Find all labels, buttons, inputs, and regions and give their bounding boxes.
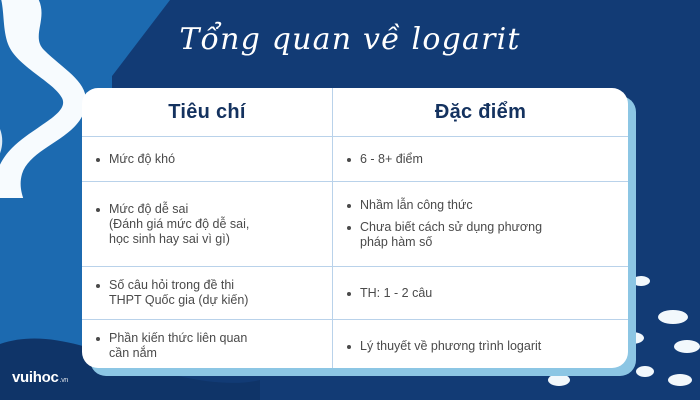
bullet-icon (347, 345, 351, 349)
list-item: Lý thuyết về phương trình logarit (347, 339, 618, 354)
list-item-label: Mức độ khó (109, 152, 322, 167)
list-item: 6 - 8+ điểm (347, 152, 618, 167)
header-label-criteria: Tiêu chí (168, 101, 246, 124)
list-item: Số câu hỏi trong đề thi THPT Quốc gia (d… (96, 278, 322, 308)
header-cell-criteria: Tiêu chí (82, 88, 332, 136)
page-title: Tổng quan về logarit (0, 22, 700, 57)
row-4-characteristics-cell: Lý thuyết về phương trình logarit (332, 320, 628, 368)
bullet-icon (347, 158, 351, 162)
row-3-criteria-cell: Số câu hỏi trong đề thi THPT Quốc gia (d… (82, 267, 332, 319)
list-item: Phần kiến thức liên quan cần nắm (96, 331, 322, 361)
list-item-label: Nhầm lẫn công thức (360, 198, 618, 213)
bullet-icon (347, 292, 351, 296)
brand-logo[interactable]: vuihoc .vn (12, 369, 68, 386)
slide-canvas: Tổng quan về logarit Tiêu chí Đặc điểm M… (0, 0, 700, 400)
list-item-label: Chưa biết cách sử dụng phương pháp hàm s… (360, 220, 618, 250)
table-row: Số câu hỏi trong đề thi THPT Quốc gia (d… (82, 266, 628, 319)
list-item-label: TH: 1 - 2 câu (360, 286, 618, 301)
header-label-characteristics: Đặc điểm (435, 101, 526, 124)
row-4-criteria-cell: Phần kiến thức liên quan cần nắm (82, 320, 332, 368)
list-item-label: Số câu hỏi trong đề thi THPT Quốc gia (d… (109, 278, 322, 308)
table-row: Phần kiến thức liên quan cần nắm Lý thuy… (82, 319, 628, 368)
table-row: Mức độ dễ sai (Đánh giá mức độ dễ sai, h… (82, 181, 628, 266)
bullet-icon (96, 284, 100, 288)
list-item-label: Lý thuyết về phương trình logarit (360, 339, 618, 354)
comparison-table: Tiêu chí Đặc điểm Mức độ khó 6 - 8+ điểm (82, 88, 628, 368)
list-item: TH: 1 - 2 câu (347, 286, 618, 301)
list-item: Chưa biết cách sử dụng phương pháp hàm s… (347, 220, 618, 250)
table-row: Mức độ khó 6 - 8+ điểm (82, 136, 628, 181)
list-item: Mức độ dễ sai (Đánh giá mức độ dễ sai, h… (96, 202, 322, 247)
row-3-characteristics-cell: TH: 1 - 2 câu (332, 267, 628, 319)
bullet-icon (96, 158, 100, 162)
table-header-row: Tiêu chí Đặc điểm (82, 88, 628, 136)
row-2-characteristics-cell: Nhầm lẫn công thức Chưa biết cách sử dụn… (332, 182, 628, 266)
bullet-icon (96, 208, 100, 212)
row-2-criteria-cell: Mức độ dễ sai (Đánh giá mức độ dễ sai, h… (82, 182, 332, 266)
bullet-icon (96, 337, 100, 341)
brand-logo-suffix: .vn (60, 377, 68, 384)
list-item-label: 6 - 8+ điểm (360, 152, 618, 167)
list-item: Nhầm lẫn công thức (347, 198, 618, 213)
header-cell-characteristics: Đặc điểm (332, 88, 628, 136)
row-1-criteria-cell: Mức độ khó (82, 137, 332, 181)
list-item: Mức độ khó (96, 152, 322, 167)
bullet-icon (347, 204, 351, 208)
row-1-characteristics-cell: 6 - 8+ điểm (332, 137, 628, 181)
list-item-label: Phần kiến thức liên quan cần nắm (109, 331, 322, 361)
brand-logo-name: vuihoc (12, 369, 59, 386)
bullet-icon (347, 226, 351, 230)
list-item-label: Mức độ dễ sai (Đánh giá mức độ dễ sai, h… (109, 202, 322, 247)
